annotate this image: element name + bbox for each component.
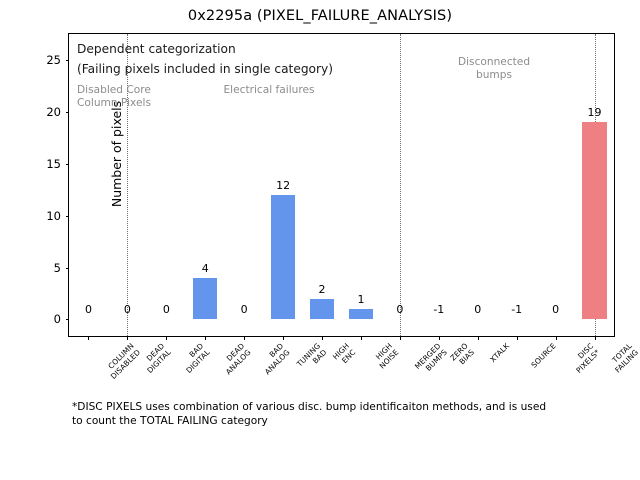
x-tick-mark: [439, 336, 440, 340]
footnote-line-2: to count the TOTAL FAILING category: [72, 414, 572, 428]
x-tick-label: MERGEDBUMPS: [414, 342, 449, 377]
group-label-line2: Column Pixels: [77, 97, 151, 110]
y-tick-label: 0: [21, 312, 69, 326]
bar-value-label: 0: [552, 303, 559, 316]
x-tick-mark: [361, 336, 362, 340]
x-tick-label: BADDIGITAL: [179, 342, 212, 375]
footnote: *DISC PIXELS uses combination of various…: [72, 400, 572, 428]
annotation-group-electrical-failures: Electrical failures: [223, 84, 314, 97]
x-tick-label: SOURCE: [530, 342, 558, 370]
bar-value-label: 2: [319, 283, 326, 296]
group-label-line1: Disabled Core: [77, 84, 151, 97]
annotation-group-disabled-core: Disabled Core Column Pixels: [77, 84, 151, 110]
y-tick-mark: [66, 164, 70, 165]
x-tick-label: DISCPIXELS*: [568, 342, 601, 375]
group-label-line1: Electrical failures: [223, 84, 314, 97]
y-tick-mark: [66, 60, 70, 61]
bar: [310, 299, 334, 320]
y-tick-mark: [66, 112, 70, 113]
bar-value-label: 19: [588, 106, 602, 119]
bar: [349, 309, 373, 319]
bar-value-label: 0: [241, 303, 248, 316]
y-tick-label: 25: [21, 53, 69, 67]
page-title: 0x2295a (PIXEL_FAILURE_ANALYSIS): [0, 8, 640, 24]
group-divider-line: [400, 34, 401, 336]
annotation-failing-pixels-note: (Failing pixels included in single categ…: [77, 62, 333, 76]
x-tick-mark: [88, 336, 89, 340]
y-tick-label: 20: [21, 105, 69, 119]
x-tick-label: BADANALOG: [257, 342, 292, 377]
bar-value-label: -1: [433, 303, 444, 316]
bar: [582, 122, 606, 319]
x-tick-label: COLUMNDISABLED: [104, 342, 143, 381]
bar: [193, 278, 217, 320]
x-tick-label: HIGHNOISE: [372, 342, 401, 371]
group-label-line2: bumps: [458, 69, 530, 82]
x-tick-mark: [478, 336, 479, 340]
bar-value-label: 0: [163, 303, 170, 316]
x-tick-mark: [322, 336, 323, 340]
footnote-line-1: *DISC PIXELS uses combination of various…: [72, 400, 572, 414]
bar-value-label: 1: [357, 293, 364, 306]
x-tick-label: TOTALFAILING: [607, 342, 640, 375]
plot-area: Number of pixels 0510152025 COLUMNDISABL…: [68, 33, 615, 337]
x-tick-label: HIGHENC: [332, 342, 358, 368]
x-tick-label: DEADANALOG: [219, 342, 254, 377]
annotation-dependent-categorization: Dependent categorization: [77, 42, 236, 56]
x-tick-mark: [244, 336, 245, 340]
x-tick-label: XTALK: [489, 342, 512, 365]
x-tick-mark: [205, 336, 206, 340]
y-tick-label: 15: [21, 157, 69, 171]
x-tick-label: ZEROBIAS: [449, 342, 476, 369]
x-tick-mark: [517, 336, 518, 340]
bar-value-label: 4: [202, 262, 209, 275]
y-tick-label: 5: [21, 261, 69, 275]
bar-value-label: 0: [124, 303, 131, 316]
x-tick-mark: [127, 336, 128, 340]
x-tick-mark: [283, 336, 284, 340]
y-tick-label: 10: [21, 209, 69, 223]
annotation-group-disconnected-bumps: Disconnected bumps: [458, 56, 530, 82]
x-tick-label: TUNINGBAD: [296, 342, 329, 375]
x-tick-mark: [166, 336, 167, 340]
bar-value-label: 0: [474, 303, 481, 316]
group-divider-line: [127, 34, 128, 336]
group-label-line1: Disconnected: [458, 56, 530, 69]
bar-value-label: 12: [276, 179, 290, 192]
bar-value-label: 0: [85, 303, 92, 316]
plot-inner: Number of pixels 0510152025 COLUMNDISABL…: [69, 34, 614, 336]
bar-value-label: 0: [396, 303, 403, 316]
x-tick-mark: [595, 336, 596, 340]
y-tick-mark: [66, 319, 70, 320]
x-tick-label: DEADDIGITAL: [140, 342, 173, 375]
bar-value-label: -1: [511, 303, 522, 316]
y-tick-mark: [66, 268, 70, 269]
y-tick-mark: [66, 216, 70, 217]
figure: 0x2295a (PIXEL_FAILURE_ANALYSIS) Number …: [0, 0, 640, 480]
x-tick-mark: [556, 336, 557, 340]
bar: [271, 195, 295, 320]
x-tick-mark: [400, 336, 401, 340]
